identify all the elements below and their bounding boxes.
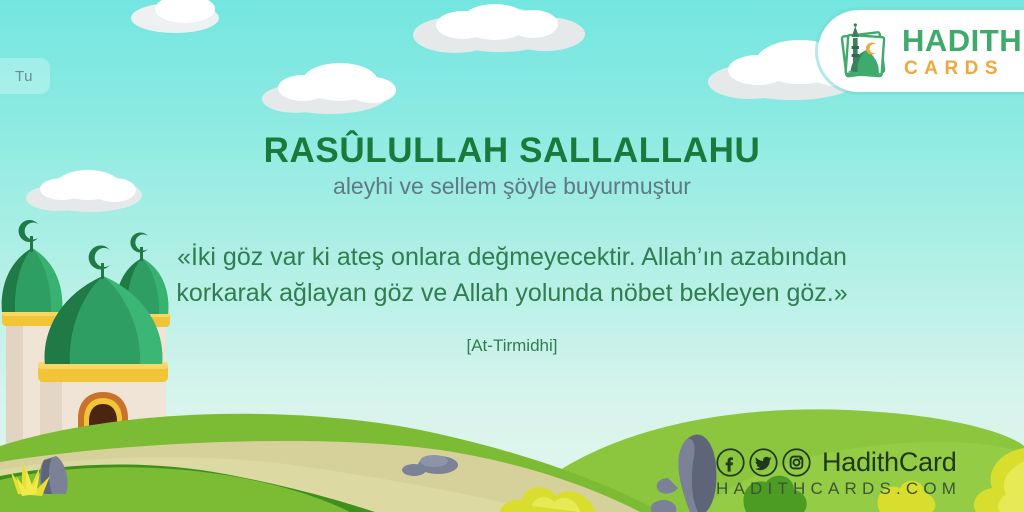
site-url: HADITHCARDS.COM — [716, 479, 1016, 499]
hadith-card: Tu — [0, 0, 1024, 512]
mosque-cards-logo-icon — [834, 20, 896, 82]
logo-cards-text: CARDS — [904, 59, 1022, 78]
twitter-icon[interactable] — [749, 448, 778, 477]
page-title: RASÛLULLAH SALLALLAHU — [0, 131, 1024, 171]
language-badge[interactable]: Tu — [0, 58, 50, 94]
facebook-icon[interactable] — [716, 448, 745, 477]
instagram-icon[interactable] — [782, 448, 811, 477]
page-subtitle: aleyhi ve sellem şöyle buyurmuştur — [0, 173, 1024, 200]
hadith-quote: «İki göz var ki ateş onlara değmeyecekti… — [132, 240, 892, 311]
logo-hadith-text: HADITH — [902, 25, 1022, 56]
footer-branding: HadithCard HADITHCARDS.COM — [716, 446, 1016, 502]
logo-panel[interactable]: HADITH CARDS — [818, 10, 1024, 92]
brand-name: HadithCard — [822, 448, 957, 477]
language-badge-label: Tu — [15, 68, 33, 85]
social-links-row: HadithCard — [716, 446, 1016, 478]
logo-wordmark: HADITH CARDS — [902, 25, 1022, 78]
hadith-source: [At-Tirmidhi] — [0, 336, 1024, 356]
